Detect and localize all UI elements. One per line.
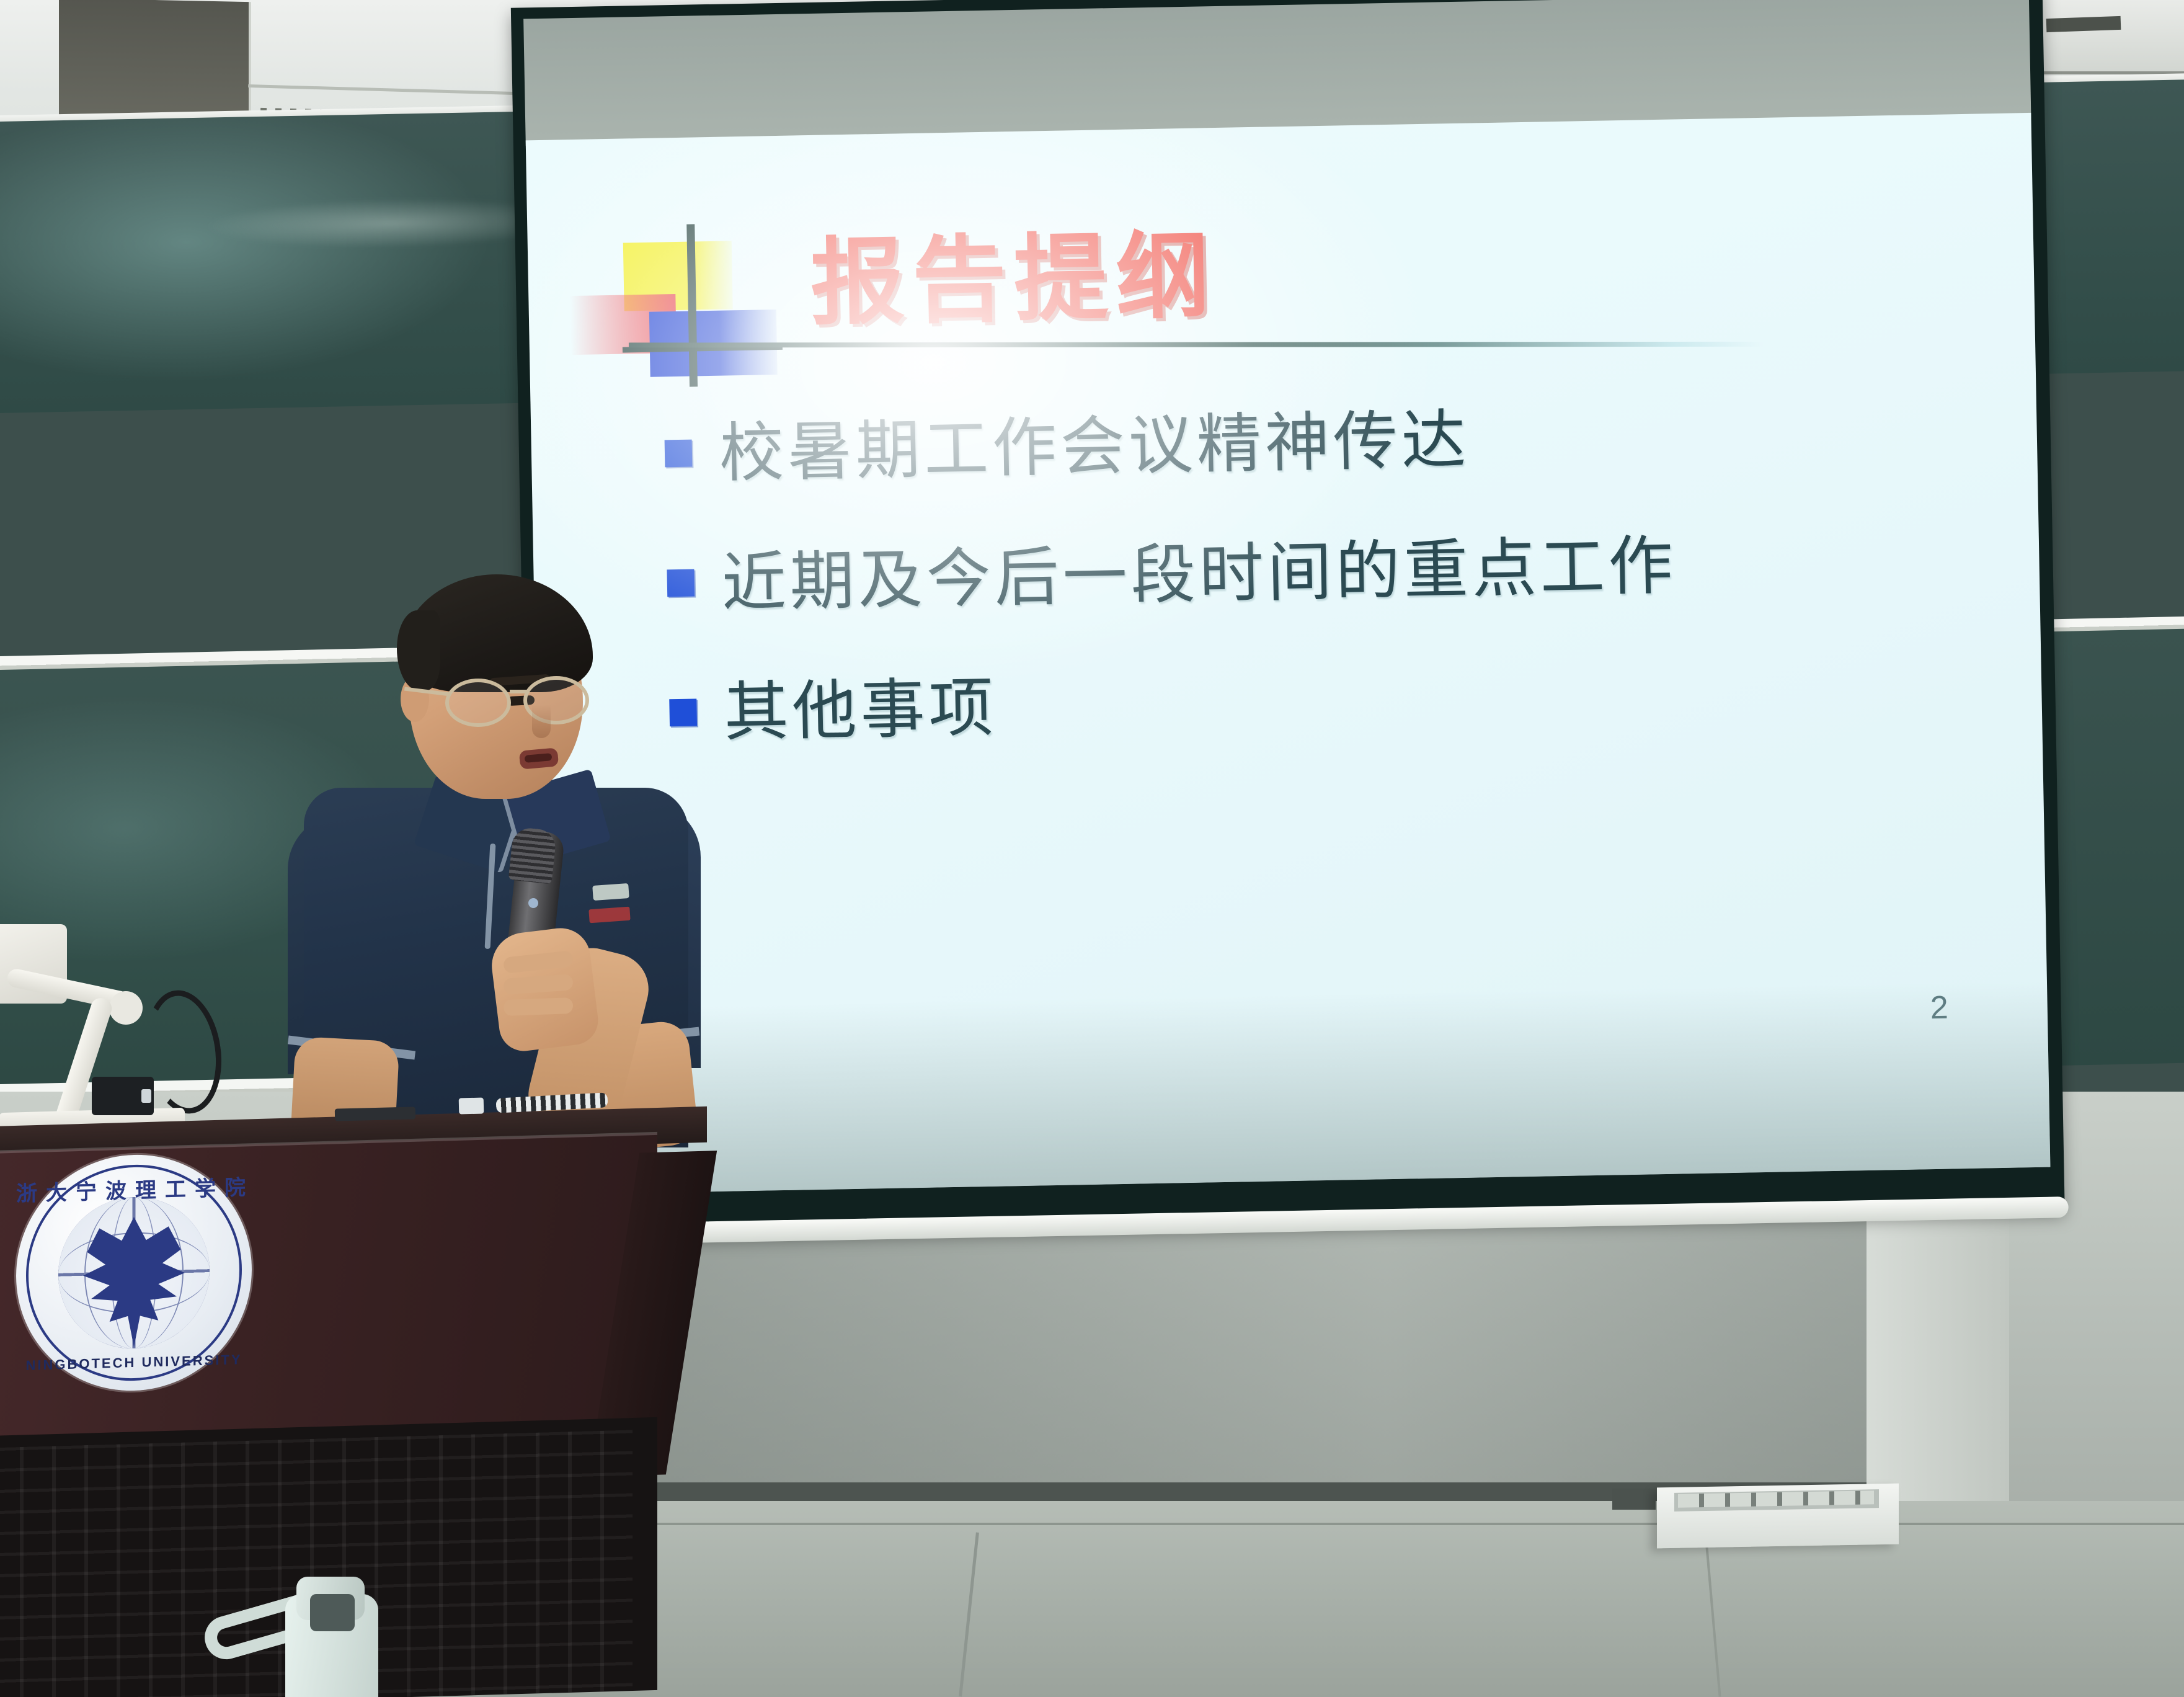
shirt-logo-tag [588,907,630,924]
projected-slide-surface: 报告提纲 校暑期工作会议精神传达 近期及今后一段时间的重点工作 其他事项 [526,113,2051,1195]
slide-decoration-graphic [597,223,779,399]
list-item: 校暑期工作会议精神传达 [664,376,2017,495]
desk-small-item [459,1098,484,1115]
nose [532,705,551,738]
projection-screen: 报告提纲 校暑期工作会议精神传达 近期及今后一段时间的重点工作 其他事项 [511,0,2065,1254]
desk-device [335,1107,415,1121]
microphone-grille [508,827,557,884]
slide-title: 报告提纲 [809,199,1219,343]
bullet-label: 其他事项 [723,655,998,754]
bottle-window [310,1594,355,1631]
list-item: 近期及今后一段时间的重点工作 [666,506,2019,625]
classroom-photo-scene: 报告提纲 校暑期工作会议精神传达 近期及今后一段时间的重点工作 其他事项 [0,0,2184,1697]
list-item: 其他事项 [668,636,2022,754]
presentation-slide: 报告提纲 校暑期工作会议精神传达 近期及今后一段时间的重点工作 其他事项 [526,113,2051,1195]
title-underline-rule [629,342,1764,348]
speaker-figure [291,583,688,1147]
glasses-lens-left [445,679,511,727]
bullet-square-icon [665,439,693,467]
wall-dark-strip [1612,1489,1656,1510]
university-logo: 浙大宁波理工学院 NINGBOTECH UNIVERSITY [16,1152,252,1394]
glasses-bridge [510,690,527,693]
glasses-icon [445,676,594,726]
ceiling-right-fixture [2046,16,2121,32]
bullet-label: 近期及今后一段时间的重点工作 [721,513,1677,624]
sideburn [397,610,440,691]
slide-page-number: 2 [1930,989,1948,1027]
bullet-label: 校暑期工作会议精神传达 [718,387,1470,494]
ceiling-right-panel [2040,0,2184,74]
shirt-logo-icon [592,883,629,901]
lectern-podium: 浙大宁波理工学院 NINGBOTECH UNIVERSITY [0,1116,707,1697]
document-camera-arm [0,912,254,1135]
slide-bullet-list: 校暑期工作会议精神传达 近期及今后一段时间的重点工作 其他事项 [664,376,2022,790]
arm-joint [109,991,143,1025]
finger [504,997,574,1016]
av-box-indicator [141,1089,151,1103]
